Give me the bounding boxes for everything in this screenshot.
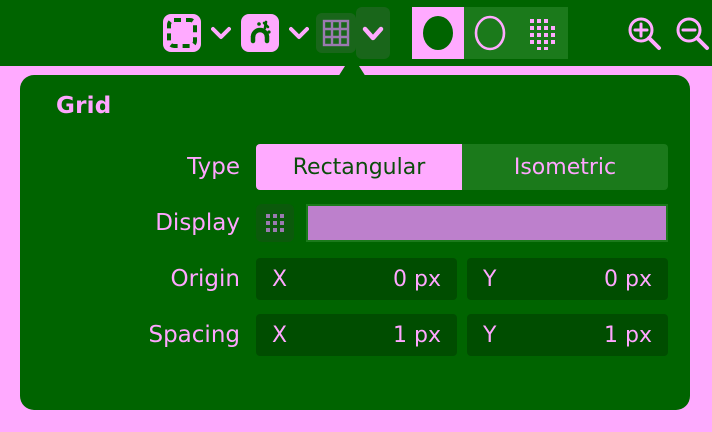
grid-settings-panel: Grid Type Rectangular Isometric Display <box>20 75 690 410</box>
grid-origin-y-value: 0 px <box>604 267 652 292</box>
zoom-controls-group <box>620 7 712 59</box>
zoom-out-button[interactable] <box>668 7 712 59</box>
toolbar-transform-dropdown-chevron[interactable] <box>204 7 238 59</box>
grid-display-toggle-button[interactable] <box>256 204 294 242</box>
view-mode-solid-button[interactable] <box>412 7 464 59</box>
grid-display-label: Display <box>38 210 256 236</box>
toolbar-transform-tool-button[interactable] <box>160 7 204 59</box>
zoom-in-button[interactable] <box>620 7 668 59</box>
grid-color-swatch[interactable] <box>306 204 668 242</box>
grid-type-label: Type <box>38 154 256 180</box>
filled-circle-icon <box>421 14 455 52</box>
grid-spacing-y-field[interactable]: Y 1 px <box>467 314 668 356</box>
grid-origin-x-value: 0 px <box>393 267 441 292</box>
toolbar-snap-dropdown-chevron[interactable] <box>282 7 316 59</box>
grid-type-rectangular-button[interactable]: Rectangular <box>256 144 462 190</box>
magnet-icon <box>241 14 279 52</box>
grid-spacing-x-axis-label: X <box>272 323 287 348</box>
toolbar-grid-tool-button[interactable] <box>316 13 356 53</box>
grid-origin-y-axis-label: Y <box>483 267 496 292</box>
view-mode-dots-button[interactable] <box>516 7 568 59</box>
selection-handles-icon <box>163 14 201 52</box>
toolbar-snap-tool-button[interactable] <box>238 7 282 59</box>
dot-matrix-icon <box>526 16 558 50</box>
grid-display-row: Display <box>38 201 668 245</box>
toolbar-grid-dropdown-chevron[interactable] <box>356 7 390 59</box>
grid-origin-x-field[interactable]: X 0 px <box>256 258 457 300</box>
panel-title: Grid <box>56 93 668 119</box>
grid-spacing-y-value: 1 px <box>604 323 652 348</box>
grid-type-isometric-button[interactable]: Isometric <box>462 144 668 190</box>
grid-spacing-x-value: 1 px <box>393 323 441 348</box>
chevron-down-icon <box>211 26 231 40</box>
view-mode-outline-button[interactable] <box>464 7 516 59</box>
chevron-down-icon <box>289 26 309 40</box>
magnifier-minus-icon <box>674 15 710 51</box>
grid-spacing-label: Spacing <box>38 322 256 348</box>
grid-origin-x-axis-label: X <box>272 267 287 292</box>
grid-origin-label: Origin <box>38 266 256 292</box>
grid-spacing-y-axis-label: Y <box>483 323 496 348</box>
grid-type-row: Type Rectangular Isometric <box>38 145 668 189</box>
grid-type-segmented-control: Rectangular Isometric <box>256 144 668 190</box>
panel-pointer-triangle <box>338 55 366 77</box>
dot-grid-icon <box>264 212 286 234</box>
grid-icon <box>322 19 350 47</box>
grid-spacing-row: Spacing X 1 px Y 1 px <box>38 313 668 357</box>
view-mode-group <box>412 7 568 59</box>
grid-origin-y-field[interactable]: Y 0 px <box>467 258 668 300</box>
grid-origin-row: Origin X 0 px Y 0 px <box>38 257 668 301</box>
outline-circle-icon <box>473 14 507 52</box>
grid-spacing-x-field[interactable]: X 1 px <box>256 314 457 356</box>
chevron-down-icon <box>362 26 384 41</box>
magnifier-plus-icon <box>626 15 662 51</box>
